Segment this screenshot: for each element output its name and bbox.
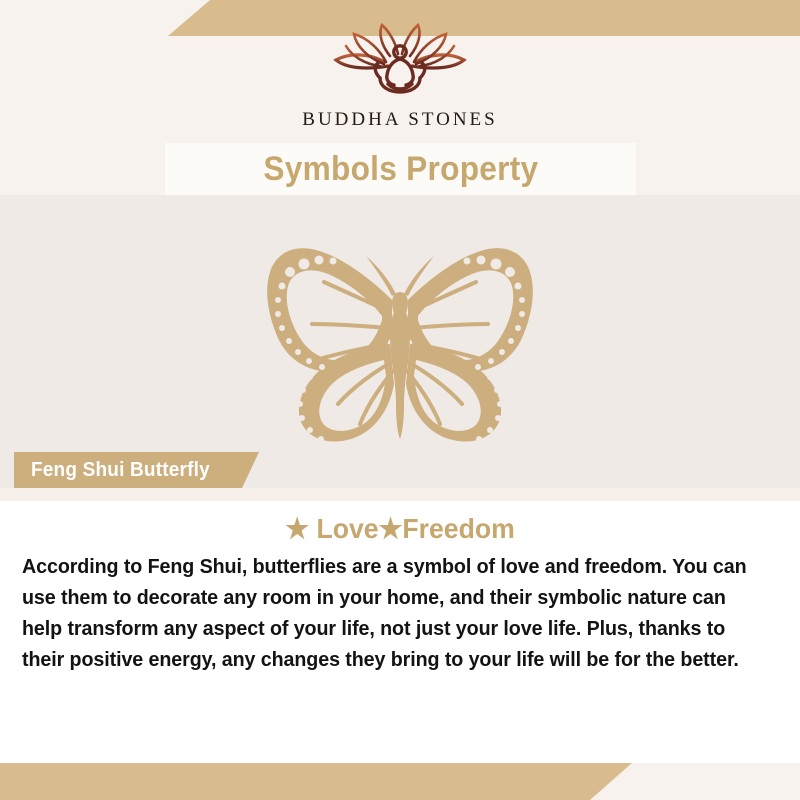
title-band: Symbols Property <box>165 143 636 195</box>
keywords-line: ★ Love★Freedom <box>20 512 780 545</box>
tag-label: Feng Shui Butterfly <box>31 459 210 482</box>
gold-frame-bottom <box>0 763 632 800</box>
promo-card: BUDDHA STONES Symbols Property <box>0 0 800 800</box>
status-badge: Feng Shui Butterfly <box>14 452 259 488</box>
separator-strip <box>0 488 800 501</box>
brand-logo: BUDDHA STONES <box>0 22 800 142</box>
feature-image-panel <box>0 195 800 495</box>
brand-name: BUDDHA STONES <box>302 110 497 129</box>
description-paragraph: According to Feng Shui, butterflies are … <box>22 551 754 675</box>
lotus-meditation-figure-icon <box>310 22 490 108</box>
butterfly-icon <box>220 220 580 470</box>
page-title: Symbols Property <box>263 150 538 189</box>
